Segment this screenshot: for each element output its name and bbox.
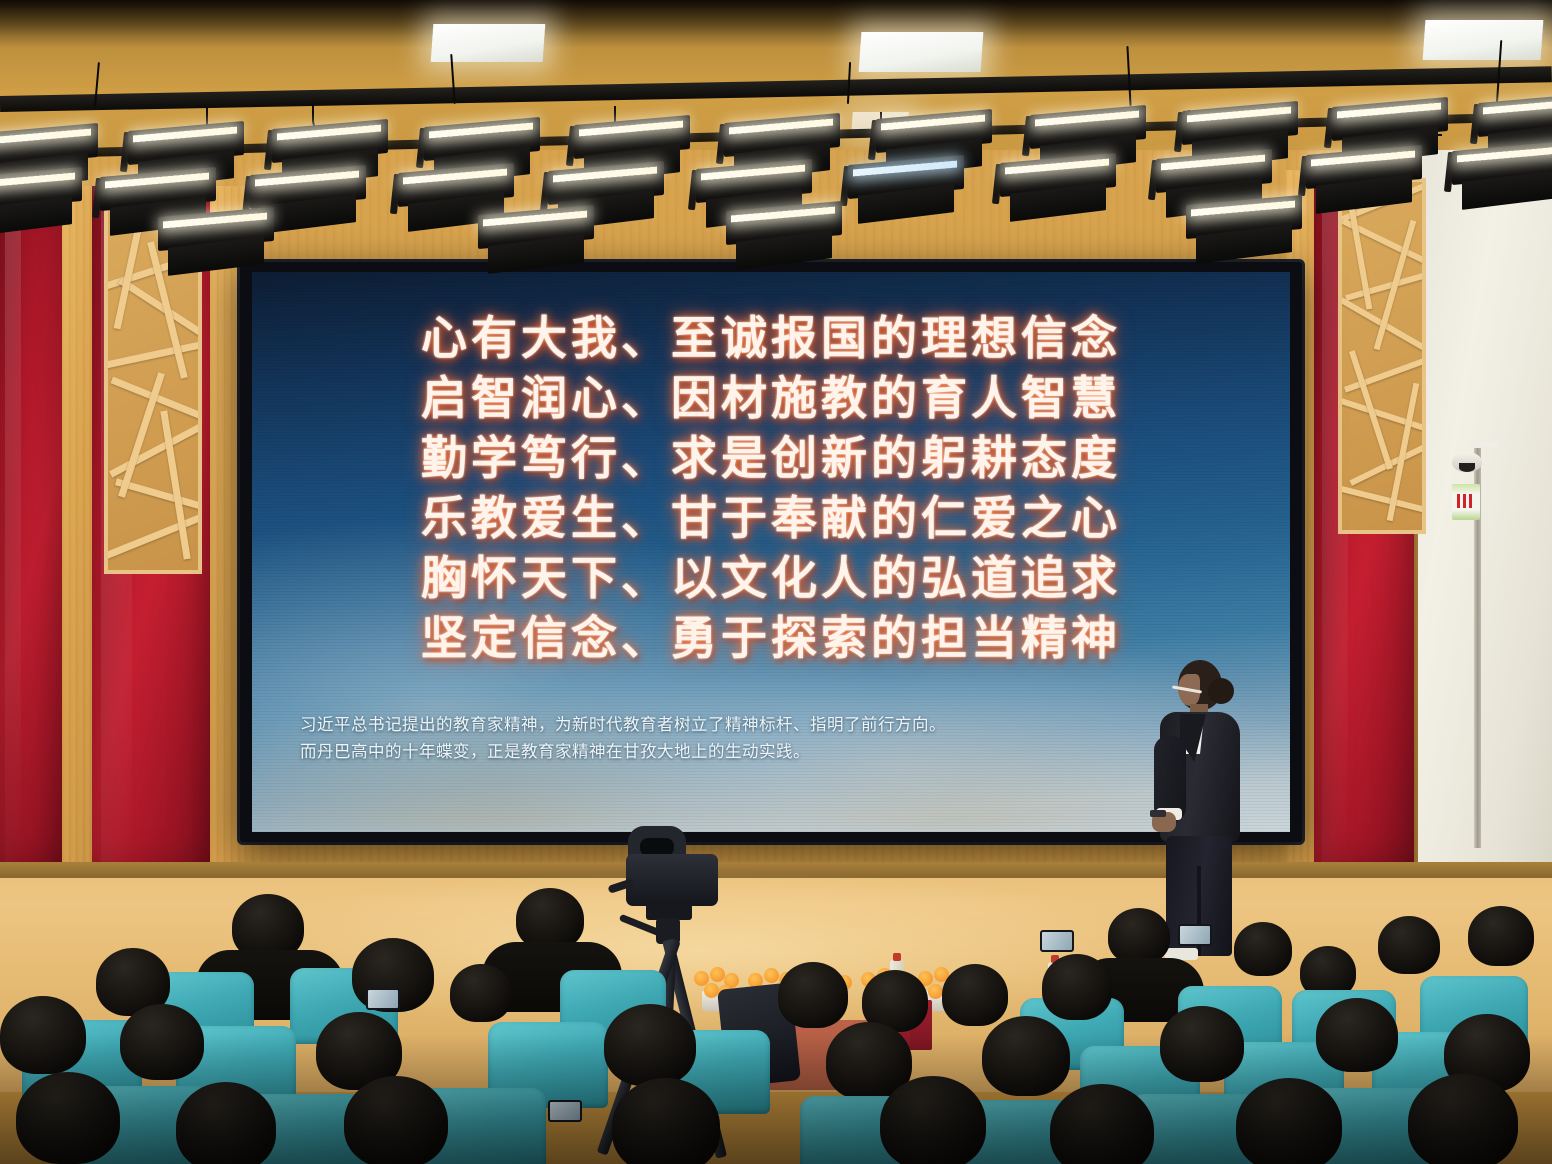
audience-head xyxy=(880,1076,986,1164)
slide-line-6: 坚定信念、勇于探索的担当精神 xyxy=(252,608,1290,668)
presentation-clicker-icon xyxy=(1150,810,1166,817)
audience-phone xyxy=(1178,924,1212,946)
wood-trim xyxy=(62,186,92,872)
lattice-panel-right xyxy=(1338,178,1426,534)
slide-line-4: 乐教爱生、甘于奉献的仁爱之心 xyxy=(252,488,1290,548)
led-screen-frame: 心有大我、至诚报国的理想信念 启智润心、因材施教的育人智慧 勤学笃行、求是创新的… xyxy=(240,262,1302,842)
slide-line-2: 启智润心、因材施教的育人智慧 xyxy=(252,368,1290,428)
audience-head xyxy=(1236,1078,1342,1164)
audience-head xyxy=(450,964,512,1022)
red-wall-panel-left-outer xyxy=(0,190,62,870)
stage-light xyxy=(1000,158,1116,220)
slide-subtitle: 习近平总书记提出的教育家精神，为新时代教育者树立了精神标杆、指明了前行方向。 而… xyxy=(300,712,1250,766)
audience-head xyxy=(1408,1074,1518,1164)
audience-head xyxy=(778,962,848,1028)
stage-light xyxy=(158,212,274,274)
audience-head xyxy=(1234,922,1292,976)
audience-head xyxy=(1316,998,1398,1072)
stage-light xyxy=(478,210,594,272)
dome-security-camera-icon xyxy=(1452,452,1482,472)
sign-text-glyphs xyxy=(1457,494,1475,508)
presenter-hair-bun xyxy=(1208,678,1234,704)
stage-light xyxy=(1452,146,1552,208)
stage-light xyxy=(0,172,82,234)
audience-head xyxy=(16,1072,120,1164)
safety-equipment-sign xyxy=(1452,484,1480,520)
stage-light xyxy=(726,206,842,268)
audience-head xyxy=(176,1082,276,1164)
ceiling-light-panel xyxy=(859,32,984,72)
stage-light xyxy=(1306,150,1422,212)
audience-head xyxy=(612,1078,720,1164)
audience-head xyxy=(0,996,86,1074)
audience-head xyxy=(982,1016,1070,1096)
audience-head xyxy=(1042,954,1112,1020)
audience-phone xyxy=(366,988,400,1010)
audience-head xyxy=(120,1004,204,1080)
audience-head xyxy=(1108,908,1170,964)
audience-phone xyxy=(1040,930,1074,952)
audience-head xyxy=(516,888,584,950)
ceiling-light-panel xyxy=(431,24,546,62)
slide-line-5: 胸怀天下、以文化人的弘道追求 xyxy=(252,548,1290,608)
audience-phone xyxy=(548,1100,582,1122)
audience-head xyxy=(1160,1006,1244,1082)
stage-light xyxy=(1186,200,1302,262)
led-screen: 心有大我、至诚报国的理想信念 启智润心、因材施教的育人智慧 勤学笃行、求是创新的… xyxy=(252,272,1290,832)
audience-area xyxy=(0,880,1552,1164)
audience-head xyxy=(1378,916,1440,974)
slide-subtitle-line-2: 而丹巴高中的十年蝶变，正是教育家精神在甘孜大地上的生动实践。 xyxy=(300,739,1250,766)
audience-head xyxy=(942,964,1008,1026)
ceiling-light-panel xyxy=(1423,20,1544,60)
audience-head xyxy=(344,1076,448,1164)
audience-head xyxy=(1468,906,1534,966)
slide-line-1: 心有大我、至诚报国的理想信念 xyxy=(252,308,1290,368)
audience-head xyxy=(604,1004,696,1086)
slide-subtitle-line-1: 习近平总书记提出的教育家精神，为新时代教育者树立了精神标杆、指明了前行方向。 xyxy=(300,712,1250,739)
slide-text-block: 心有大我、至诚报国的理想信念 启智润心、因材施教的育人智慧 勤学笃行、求是创新的… xyxy=(252,308,1290,668)
auditorium-scene: 心有大我、至诚报国的理想信念 启智润心、因材施教的育人智慧 勤学笃行、求是创新的… xyxy=(0,0,1552,1164)
ceiling-shadow xyxy=(0,0,1552,48)
camera-mount-arm xyxy=(1470,442,1498,447)
stage-light xyxy=(848,160,964,222)
slide-line-3: 勤学笃行、求是创新的躬耕态度 xyxy=(252,428,1290,488)
